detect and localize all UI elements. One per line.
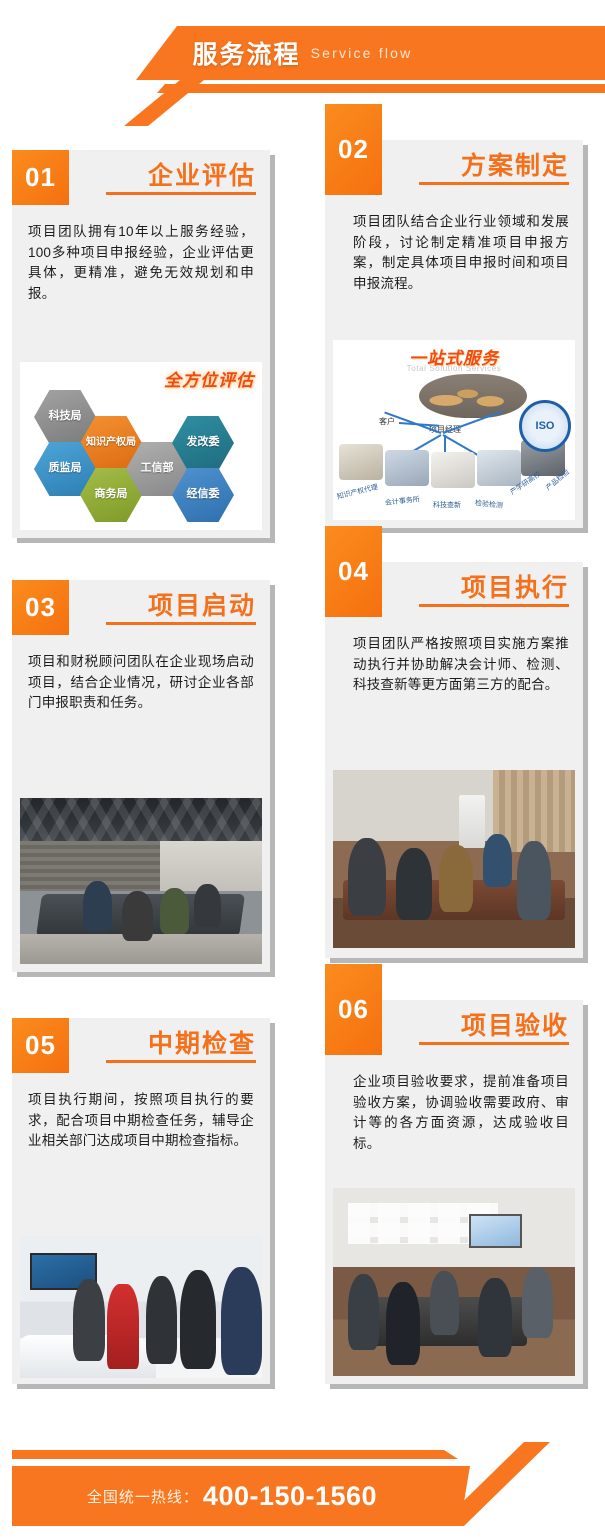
hotline-number[interactable]: 400-150-1560 [203,1481,377,1512]
meeting-laptops-photo [333,770,575,948]
title-underline-03 [106,622,256,625]
step-title-06: 项目验收 [461,1006,569,1042]
person-silhouette [83,881,112,931]
step-number-badge-05: 05 [12,1018,69,1073]
person-silhouette [430,1271,459,1335]
card-05-head: 05 中期检查 [12,1018,270,1080]
hotline-group: 全国统一热线： 400-150-1560 [12,1466,452,1526]
step-card-05[interactable]: 05 中期检查 项目执行期间，按照项目执行的要求，配合项目中期检查任务，辅导企业… [12,1018,270,1384]
step-body-02: 项目团队结合企业行业领域和发展阶段，讨论制定精准项目申报方案，制定具体项目申报时… [325,202,583,294]
card-01-head: 01 企业评估 [12,150,270,212]
card-06-head: 06 项目验收 [325,1000,583,1062]
page-footer: 全国统一热线： 400-150-1560 [0,1408,605,1538]
step-body-06: 企业项目验收要求，提前准备项目验收方案，协调验收需要政府、审计等的各方面资源，达… [325,1062,583,1154]
step-number-badge-02: 02 [325,104,382,195]
oss-service-label-2: 科技查新 [433,500,461,510]
step-number-badge-01: 01 [12,150,69,205]
oss-team-photo [419,374,527,418]
step-body-03: 项目和财税顾问团队在企业现场启动项目，结合企业情况，研讨企业各部门申报职责和任务… [12,642,270,714]
hotline-label: 全国统一热线： [87,1486,199,1507]
footer-accent-stripe [12,1450,592,1459]
oss-node-testing [477,450,521,486]
person-silhouette [396,848,432,919]
page-header: 服务流程 Service flow [0,0,605,120]
oss-client-label: 客户 [379,416,395,427]
oss-service-label-1: 会计事务所 [384,494,420,508]
card-04-head: 04 项目执行 [325,562,583,624]
presentation-screen [469,1214,522,1248]
ceiling-pattern [20,798,262,841]
header-accent-stripe [0,84,605,93]
title-underline-05 [106,1060,256,1063]
person-silhouette [221,1267,262,1375]
person-silhouette [517,841,551,919]
oss-iso-seal: ISO [519,400,571,452]
step-card-06[interactable]: 06 项目验收 企业项目验收要求，提前准备项目验收方案，协调验收需要政府、审计等… [325,1000,583,1384]
showroom-visit-photo [20,1236,262,1378]
title-underline-06 [419,1042,569,1045]
step-card-04[interactable]: 04 项目执行 项目团队严格按照项目实施方案推动执行并协助解决会计师、检测、科技… [325,562,583,958]
card-03-head: 03 项目启动 [12,580,270,642]
page-subtitle: Service flow [311,45,413,61]
step-number-badge-03: 03 [12,580,69,635]
title-underline-04 [419,604,569,607]
step-body-01: 项目团队拥有10年以上服务经验，100多种项目申报经验，企业评估更具体，更精准，… [12,212,270,304]
person-silhouette [522,1267,553,1338]
person-silhouette [348,838,387,916]
step-number-badge-06: 06 [325,964,382,1055]
audit-meeting-photo [333,1188,575,1376]
page-title: 服务流程 [193,35,301,71]
step-card-01[interactable]: 01 企业评估 项目团队拥有10年以上服务经验，100多种项目申报经验，企业评估… [12,150,270,538]
step-card-03[interactable]: 03 项目启动 项目和财税顾问团队在企业现场启动项目，结合企业情况，研讨企业各部… [12,580,270,972]
step-card-02[interactable]: 02 方案制定 项目团队结合企业行业领域和发展阶段，讨论制定精准项目申报方案，制… [325,140,583,528]
conference-room-photo [20,798,262,964]
step-number-text-02: 02 [338,134,369,165]
person-silhouette [348,1274,379,1349]
step-number-badge-04: 04 [325,526,382,617]
oss-node-accounting [385,450,429,486]
title-underline-02 [419,182,569,185]
oss-service-label-0: 知识产权代理 [336,482,379,502]
title-underline-01 [106,192,256,195]
person-silhouette [73,1279,104,1361]
header-title-group: 服务流程 Service flow [0,26,605,80]
person-silhouette [386,1282,420,1365]
person-silhouette [194,884,221,927]
step-title-04: 项目执行 [461,568,569,604]
person-silhouette [146,1276,177,1364]
person-silhouette [483,834,512,887]
hexagon-graphic-title: 全方位评估 [164,366,254,391]
oss-subtitle: Total Solution Services [333,364,575,373]
step-title-02: 方案制定 [461,146,569,182]
air-conditioner [459,795,486,848]
person-silhouette [180,1270,216,1369]
oss-node-novelty [431,452,475,488]
one-stop-service-graphic: 一站式服务 Total Solution Services 项目经理 客户 IS… [333,340,575,520]
step-body-05: 项目执行期间，按照项目执行的要求，配合项目中期检查任务，辅导企业相关部门达成项目… [12,1080,270,1152]
step-number-text-04: 04 [338,556,369,587]
step-title-05: 中期检查 [148,1024,256,1060]
step-body-04: 项目团队严格按照项目实施方案推动执行并协助解决会计师、检测、科技查新等更方面第三… [325,624,583,696]
step-title-03: 项目启动 [148,586,256,622]
person-silhouette [439,845,473,913]
step-title-01: 企业评估 [148,156,256,192]
step-number-text-06: 06 [338,994,369,1025]
person-silhouette [122,891,153,941]
hexagon-assessment-graphic: 全方位评估 科技局 知识产权局 质监局 商务局 工信部 发改委 经信委 [20,362,262,530]
card-02-head: 02 方案制定 [325,140,583,202]
oss-node-ip [339,444,383,480]
person-red-coat [107,1284,138,1369]
oss-service-label-3: 检验检测 [474,498,503,511]
service-flow-poster: 服务流程 Service flow 01 企业评估 项目团队拥有10年以上服务经… [0,0,605,1538]
person-silhouette [160,888,189,934]
person-silhouette [478,1278,512,1357]
